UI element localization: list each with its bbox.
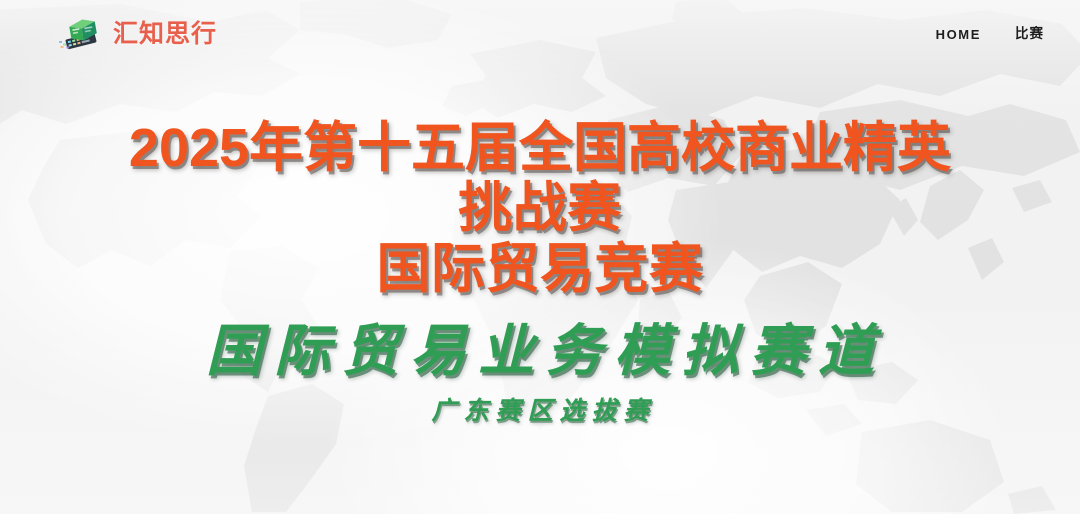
hero-content: 2025年第十五届全国高校商业精英 挑战赛 国际贸易竞赛 国际贸易业务模拟赛道 … <box>0 0 1080 514</box>
competition-banner: 汇知思行 HOME 比赛 2025年第十五届全国高校商业精英 挑战赛 国际贸易竞… <box>0 0 1080 514</box>
cube-book-logo-icon <box>58 17 104 51</box>
page-title-line-1: 2025年第十五届全国高校商业精英 <box>0 118 1080 178</box>
subtitle-track: 国际贸易业务模拟赛道 <box>0 323 1080 382</box>
brand-name: 汇知思行 <box>113 22 217 47</box>
subtitle-region: 广东赛区选拔赛 <box>0 398 1080 426</box>
page-title: 2025年第十五届全国高校商业精英 挑战赛 国际贸易竞赛 <box>0 118 1080 299</box>
main-nav: HOME 比赛 <box>936 27 1044 41</box>
site-header: 汇知思行 HOME 比赛 <box>0 0 1080 68</box>
nav-link-competition[interactable]: 比赛 <box>1015 27 1044 41</box>
nav-link-home[interactable]: HOME <box>936 28 981 41</box>
page-title-line-2: 挑战赛 <box>0 178 1080 238</box>
brand-logo[interactable]: 汇知思行 <box>58 17 217 51</box>
page-title-line-3: 国际贸易竞赛 <box>0 239 1080 299</box>
